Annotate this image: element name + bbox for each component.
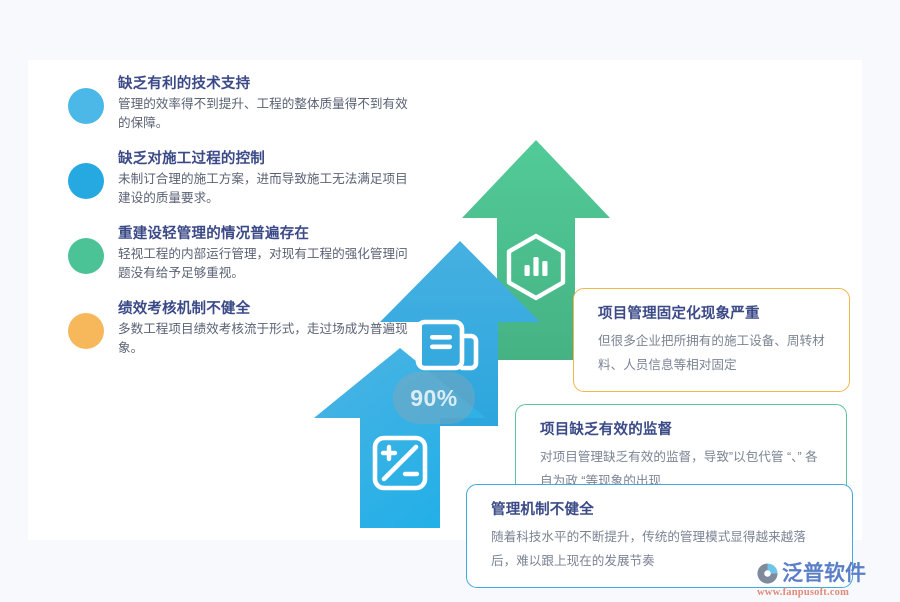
bullet-title: 绩效考核机制不健全 — [118, 299, 408, 319]
fanpu-logo-icon — [756, 562, 779, 585]
bullet-dot-green — [68, 238, 104, 274]
infographic-canvas: 缺乏有利的技术支持 管理的效率得不到提升、工程的整体质量得不到有效的保障。 缺乏… — [0, 0, 900, 600]
list-item: 缺乏有利的技术支持 管理的效率得不到提升、工程的整体质量得不到有效的保障。 — [68, 74, 408, 132]
list-item: 缺乏对施工过程的控制 未制订合理的施工方案，进而导致施工无法满足项目建设的质量要… — [68, 149, 408, 207]
brand-logo: 泛普软件 www.fanpusoft.com — [756, 560, 892, 602]
card-title: 项目管理固定化现象严重 — [598, 303, 827, 325]
card-title: 项目缺乏有效的监督 — [540, 419, 824, 441]
bullet-dot-blue-light — [68, 88, 104, 124]
card-description: 但很多企业把所拥有的施工设备、周转材料、人员信息等相对固定 — [598, 329, 827, 377]
hexagon-bar-chart-icon — [509, 236, 563, 298]
document-copy-icon — [418, 322, 476, 368]
issue-bullet-list: 缺乏有利的技术支持 管理的效率得不到提升、工程的整体质量得不到有效的保障。 缺乏… — [68, 74, 408, 374]
bullet-description: 未制订合理的施工方案，进而导致施工无法满足项目建设的质量要求。 — [118, 170, 408, 207]
logo-url: www.fanpusoft.com — [756, 587, 892, 598]
bullet-description: 多数工程项目绩效考核流于形式，走过场成为普遍现象。 — [118, 320, 408, 357]
info-card-fixed-management: 项目管理固定化现象严重 但很多企业把所拥有的施工设备、周转材料、人员信息等相对固… — [573, 288, 850, 392]
content-panel: 缺乏有利的技术支持 管理的效率得不到提升、工程的整体质量得不到有效的保障。 缺乏… — [28, 60, 862, 540]
bullet-title: 缺乏有利的技术支持 — [118, 74, 408, 94]
bullet-description: 轻视工程的内部运行管理，对现有工程的强化管理问题没有给予足够重视。 — [118, 245, 408, 282]
list-item: 绩效考核机制不健全 多数工程项目绩效考核流于形式，走过场成为普遍现象。 — [68, 299, 408, 357]
bullet-dot-blue — [68, 163, 104, 199]
bullet-title: 重建设轻管理的情况普遍存在 — [118, 224, 408, 244]
list-item: 重建设轻管理的情况普遍存在 轻视工程的内部运行管理，对现有工程的强化管理问题没有… — [68, 224, 408, 282]
bullet-title: 缺乏对施工过程的控制 — [118, 149, 408, 169]
plus-minus-square-icon — [375, 438, 425, 488]
progress-watermark: 90% — [393, 372, 475, 424]
bullet-description: 管理的效率得不到提升、工程的整体质量得不到有效的保障。 — [118, 95, 408, 132]
bullet-dot-orange — [68, 313, 104, 349]
card-title: 管理机制不健全 — [491, 499, 830, 521]
logo-name: 泛普软件 — [782, 562, 866, 585]
